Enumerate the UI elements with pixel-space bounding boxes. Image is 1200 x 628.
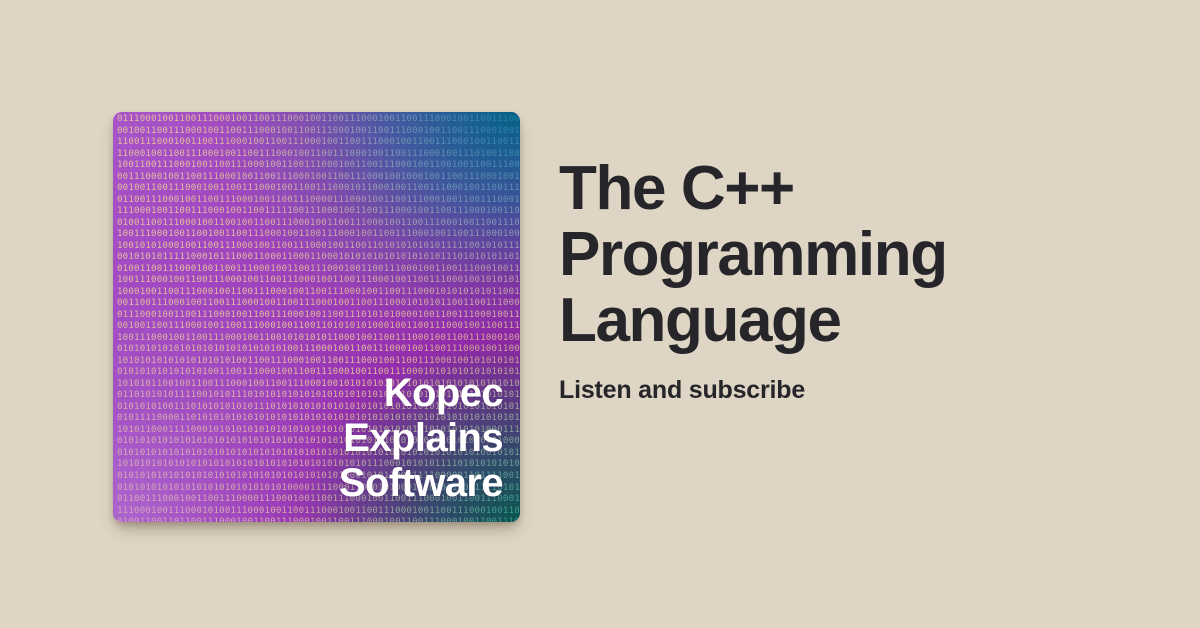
podcast-artwork[interactable]: 0111000100110011100010011001110001001100… [113,112,520,522]
episode-title-line-3: Language [559,288,1159,354]
episode-title-line-2: Programming [559,222,1159,288]
show-title-line-1: Kopec [339,371,503,416]
podcast-share-card: 0111000100110011100010011001110001001100… [0,0,1200,628]
episode-title: The C++ Programming Language [559,156,1159,354]
listen-subscribe-label[interactable]: Listen and subscribe [559,375,1159,405]
show-title-line-2: Explains [339,416,503,461]
show-title: Kopec Explains Software [339,371,503,506]
episode-title-line-1: The C++ [559,156,1159,222]
episode-info: The C++ Programming Language Listen and … [559,156,1159,405]
show-title-line-3: Software [339,461,503,506]
artwork-canvas: 0111000100110011100010011001110001001100… [113,112,520,522]
